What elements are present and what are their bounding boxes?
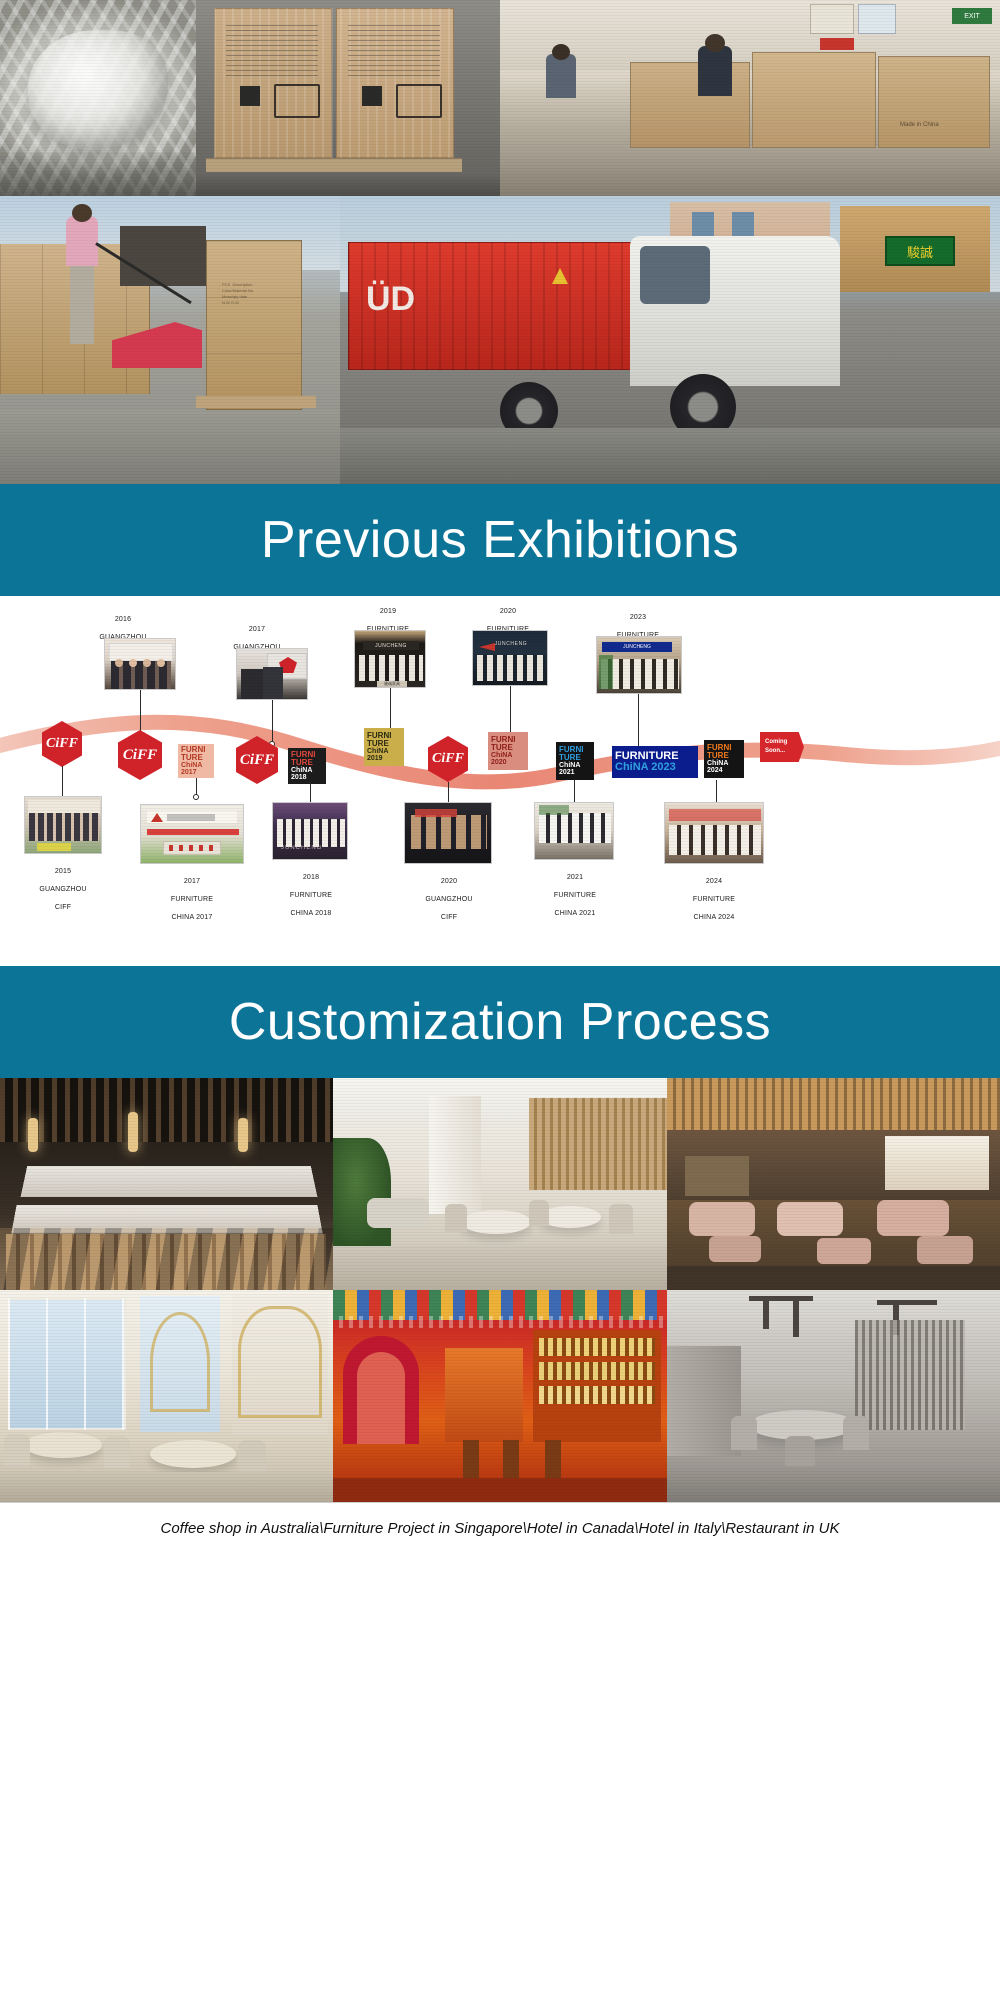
badge-line3: ChiNA 2021 (559, 762, 591, 776)
timeline-line2: FURNITURE (530, 891, 620, 900)
timeline-dot-bot-1 (193, 794, 199, 800)
exhibition-timeline: 2016 GUANGZHOU CIFF 2017 GUANGZHOU CIFF (0, 596, 1000, 966)
timeline-year: 2016 (78, 615, 168, 624)
badge-label: CiFF (240, 752, 274, 769)
timeline-line2: GUANGZHOU (18, 885, 108, 894)
coming-soon-line2: Soon... (765, 747, 804, 756)
timeline-line3: CHINA 2024 (664, 913, 764, 922)
badge-line2: ChiNA 2023 (615, 762, 695, 773)
timeline-line2: FURNITURE (266, 891, 356, 900)
photo-hotel-lobby-lounge (333, 1078, 666, 1290)
badge-coming-soon: Coming Soon... (760, 732, 804, 762)
badge-ciff-2020: CiFF (428, 736, 468, 782)
timeline-stem-top-4 (638, 694, 639, 752)
timeline-caption-bot-0: 2015 GUANGZHOU CIFF (18, 858, 108, 921)
logistics-photos-row-2: PCS DescriptionColor/Material No.Meas/qt… (0, 196, 1000, 484)
badge-furniture-china-2024: FURNI TURE ChiNA 2024 (704, 740, 744, 778)
timeline-year: 2015 (18, 867, 108, 876)
photo-sunlit-lobby-gold-screen (0, 1290, 333, 1502)
product-detail-page: EXIT Made in China PCS (0, 0, 1000, 1991)
badge-furniture-china-2018: FURNI TURE ChiNA 2018 (288, 748, 326, 784)
badge-furniture-china-2020: FURNI TURE ChiNA 2020 (488, 732, 528, 770)
project-photos-row-1 (0, 1078, 1000, 1290)
coming-soon-line1: Coming (765, 738, 804, 747)
project-photos-row-2 (0, 1290, 1000, 1502)
banner-customization-process-text: Customization Process (229, 992, 771, 1052)
badge-furniture-china-2023: FURNITURE ChiNA 2023 (612, 746, 698, 778)
timeline-year: 2020 (460, 607, 556, 616)
badge-furniture-china-2021: FURNI TURE ChiNA 2021 (556, 742, 594, 780)
timeline-photo-bot-0 (24, 796, 102, 854)
timeline-caption-bot-4: 2021 FURNITURE CHINA 2021 (530, 864, 620, 927)
timeline-stem-bot-4 (574, 780, 575, 802)
photo-container-truck-loading: 駿誠 ÜD (340, 196, 1000, 484)
timeline-year: 2021 (530, 873, 620, 882)
timeline-line2: GUANGZHOU (404, 895, 494, 904)
badge-line3: ChiNA 2019 (367, 748, 401, 762)
photo-banquet-hall-long-tables (0, 1078, 333, 1290)
badge-furniture-china-2019: FURNI TURE ChiNA 2019 (364, 728, 404, 766)
badge-line2: TURE (491, 744, 525, 752)
badge-label: CiFF (123, 747, 157, 764)
timeline-line3: CHINA 2018 (266, 909, 356, 918)
timeline-caption-bot-3: 2020 GUANGZHOU CIFF (404, 868, 494, 931)
timeline-line3: CIFF (404, 913, 494, 922)
badge-label: CiFF (46, 736, 78, 752)
badge-ciff-2015: CiFF (42, 721, 82, 767)
timeline-line3: CHINA 2017 (146, 913, 238, 922)
timeline-stem-bot-0 (62, 766, 63, 798)
timeline-year: 2017 (212, 625, 302, 634)
badge-line2: TURE (181, 754, 211, 762)
badge-furniture-china-2017: FURNI TURE ChiNA 2017 (178, 744, 214, 778)
timeline-photo-bot-4 (534, 802, 614, 860)
timeline-year: 2023 (590, 613, 686, 622)
photo-warehouse-pallet-jack: PCS DescriptionColor/Material No.Meas/qt… (0, 196, 340, 484)
timeline-line2: FURNITURE (146, 895, 238, 904)
timeline-year: 2024 (664, 877, 764, 886)
banner-customization-process: Customization Process (0, 966, 1000, 1078)
projects-caption: Coffee shop in Australia\Furniture Proje… (0, 1502, 1000, 1553)
badge-line2: TURE (291, 759, 323, 767)
timeline-photo-bot-2: JUNCHENG (272, 802, 348, 860)
packing-photos-row-1: EXIT Made in China (0, 0, 1000, 196)
badge-line2: TURE (367, 740, 401, 748)
timeline-year: 2020 (404, 877, 494, 886)
timeline-photo-bot-5 (664, 802, 764, 864)
timeline-photo-top-0 (104, 638, 176, 690)
timeline-caption-bot-5: 2024 FURNITURE CHINA 2024 (664, 868, 764, 931)
timeline-stem-bot-5 (716, 780, 717, 802)
timeline-photo-top-3: JUNCHENG (472, 630, 548, 686)
timeline-line3: CIFF (18, 903, 108, 912)
banner-previous-exhibitions: Previous Exhibitions (0, 484, 1000, 596)
photo-plastic-wrapped-chairs (0, 0, 196, 196)
timeline-stem-top-1 (272, 700, 273, 746)
timeline-photo-top-1 (236, 648, 308, 700)
banner-previous-exhibitions-text: Previous Exhibitions (261, 510, 739, 570)
photo-colorful-mexican-bar (333, 1290, 666, 1502)
photo-cartons-on-pallet-outdoor (196, 0, 500, 196)
timeline-stem-bot-2 (310, 782, 311, 802)
badge-ciff-2016: CiFF (118, 730, 162, 780)
timeline-line2: FURNITURE (664, 895, 764, 904)
badge-line2: TURE (559, 754, 591, 762)
badge-line3: ChiNA 2017 (181, 762, 211, 776)
timeline-line3: CHINA 2021 (530, 909, 620, 918)
badge-line3: ChiNA 2020 (491, 752, 525, 766)
projects-caption-text: Coffee shop in Australia\Furniture Proje… (161, 1520, 840, 1537)
photo-grey-meeting-room (667, 1290, 1000, 1502)
badge-line3: ChiNA 2024 (707, 760, 741, 774)
badge-line3: ChiNA 2018 (291, 767, 323, 781)
timeline-caption-bot-1: 2017 FURNITURE CHINA 2017 (146, 868, 238, 931)
timeline-photo-top-4: JUNCHENG (596, 636, 682, 694)
timeline-year: 2017 (146, 877, 238, 886)
timeline-year: 2019 (340, 607, 436, 616)
timeline-caption-bot-2: 2018 FURNITURE CHINA 2018 (266, 864, 356, 927)
badge-line2: TURE (707, 752, 741, 760)
badge-label: CiFF (432, 751, 464, 767)
photo-workers-sealing-cartons: EXIT Made in China (500, 0, 1000, 196)
timeline-photo-bot-1 (140, 804, 244, 864)
timeline-year: 2018 (266, 873, 356, 882)
timeline-stem-bot-3 (448, 782, 449, 802)
timeline-photo-top-2: JUNCHENG 骏诚家具 (354, 630, 426, 688)
timeline-photo-bot-3 (404, 802, 492, 864)
photo-wood-slat-restaurant (667, 1078, 1000, 1290)
